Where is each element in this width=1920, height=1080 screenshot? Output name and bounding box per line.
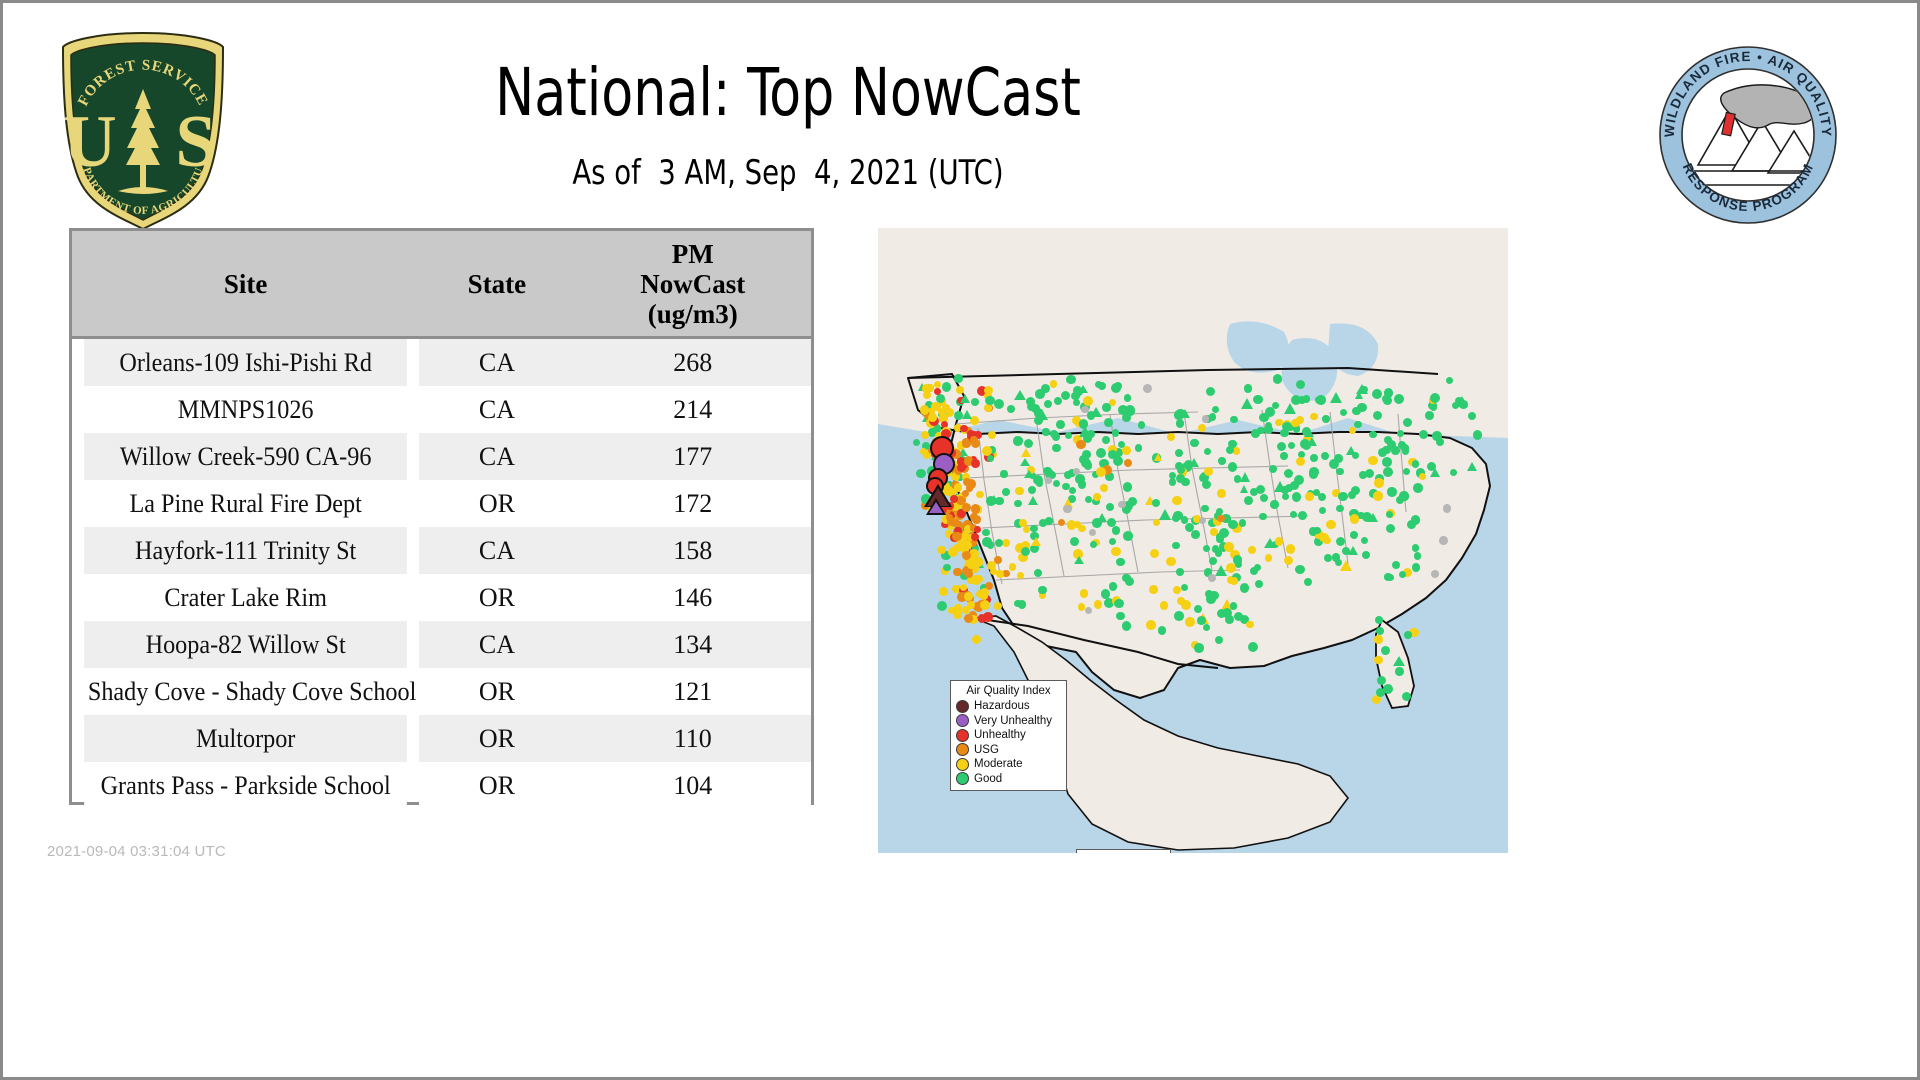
aqi-legend: Air Quality Index HazardousVery Unhealth… [950,680,1067,791]
monitor-dot[interactable] [1374,478,1384,488]
monitor-triangle[interactable] [1074,556,1084,564]
monitor-dot[interactable] [983,612,993,622]
monitor-triangle[interactable] [1467,462,1477,471]
monitor-dot[interactable] [982,529,990,537]
aqi-legend-label: Good [974,773,1002,785]
monitor-dot[interactable] [1432,431,1442,441]
monitor-dot[interactable] [1382,457,1392,467]
monitor-dot[interactable] [1080,589,1089,598]
monitor-dot[interactable] [1250,567,1258,575]
monitor-dot[interactable] [1175,462,1184,471]
monitor-dot[interactable] [1284,556,1293,565]
monitor-dot[interactable] [1209,413,1217,421]
monitor-dot[interactable] [1403,418,1412,427]
table-row[interactable]: Hayfork-111 Trinity StCA158 [72,527,811,574]
monitor-dot[interactable] [1042,428,1049,435]
monitor-dot[interactable] [1260,494,1268,502]
monitor-dot[interactable] [1295,565,1305,575]
aqi-legend-label: Very Unhealthy [974,715,1052,727]
monitor-triangle[interactable] [1215,565,1227,576]
monitor-dot[interactable] [1290,481,1299,490]
monitor-dot[interactable] [954,483,963,492]
monitor-dot[interactable] [1387,487,1397,497]
monitor-dot[interactable] [1181,478,1189,486]
monitor-dot[interactable] [1296,457,1305,466]
monitor-dot[interactable] [1224,542,1234,552]
monitor-dot[interactable] [1185,617,1195,627]
monitor-dot[interactable] [1090,541,1097,548]
monitor-dot[interactable] [1007,405,1015,413]
cell-pm: 177 [575,433,811,480]
cell-pm: 214 [575,386,811,433]
monitor-dot[interactable] [1383,467,1393,477]
monitor-dot[interactable] [1056,420,1065,429]
monitor-dot[interactable] [1259,413,1268,422]
monitor-dot[interactable] [1014,600,1021,607]
cell-state: OR [419,762,574,809]
top-site-marker[interactable] [926,498,946,515]
monitor-dot[interactable] [1407,520,1416,529]
monitor-dot[interactable] [970,436,978,444]
table-row[interactable]: Grants Pass - Parkside SchoolOR104 [72,762,811,809]
monitor-dot[interactable] [1402,692,1411,701]
monitor-dot[interactable] [1425,411,1434,420]
monitor-dot[interactable] [1019,519,1027,527]
monitor-dot[interactable] [964,614,973,623]
pm-header-line-2: NowCast [575,269,811,299]
table-row[interactable]: Orleans-109 Ishi-Pishi RdCA268 [72,338,811,387]
cell-state: CA [419,338,574,387]
monitor-triangle[interactable] [1021,448,1031,457]
monitor-dot[interactable] [971,398,979,406]
monitor-dot[interactable] [1081,406,1088,413]
monitor-dot[interactable] [1073,386,1081,394]
monitor-dot[interactable] [1362,551,1370,559]
column-header-site: Site [72,231,419,338]
monitor-dot[interactable] [1098,382,1106,390]
monitor-dot[interactable] [934,381,941,388]
monitor-dot[interactable] [1135,444,1142,451]
monitor-dot[interactable] [1078,525,1086,533]
cell-site: Orleans-109 Ishi-Pishi Rd [84,338,407,387]
monitor-dot[interactable] [1092,518,1102,528]
monitor-dot[interactable] [1203,624,1210,631]
monitor-dot[interactable] [1176,568,1184,576]
aqi-legend-label: Hazardous [974,700,1030,712]
monitor-dot[interactable] [1431,570,1439,578]
aqi-swatch-icon [956,743,969,756]
monitor-dot[interactable] [1298,396,1306,404]
monitor-dot[interactable] [1015,487,1023,495]
monitor-dot[interactable] [920,448,927,455]
monitor-dot[interactable] [952,532,962,542]
monitor-dot[interactable] [937,601,947,611]
monitor-dot[interactable] [1443,504,1451,512]
monitor-dot[interactable] [1052,444,1060,452]
cell-state: OR [419,574,574,621]
monitor-dot[interactable] [1412,544,1419,551]
monitor-dot[interactable] [1350,531,1358,539]
monitor-dot[interactable] [1286,544,1295,553]
table-row[interactable]: Shady Cove - Shady Cove SchoolOR121 [72,668,811,715]
monitor-dot[interactable] [1125,577,1134,586]
monitor-dot[interactable] [982,537,991,546]
monitor-dot[interactable] [1230,416,1237,423]
monitor-dot[interactable] [1208,574,1216,582]
monitor-dot[interactable] [1124,394,1131,401]
monitor-dot[interactable] [984,404,991,411]
monitor-dot[interactable] [1201,505,1208,512]
monitor-dot[interactable] [962,551,971,560]
monitor-dot[interactable] [1352,407,1361,416]
page-subtitle: As of 3 AM, Sep 4, 2021 (UTC) [406,153,1171,193]
monitor-dot[interactable] [996,570,1004,578]
monitor-dot[interactable] [1368,456,1378,466]
cell-pm: 104 [575,762,811,809]
cell-state: CA [419,433,574,480]
table-row[interactable]: Hoopa-82 Willow StCA134 [72,621,811,668]
table-row[interactable]: La Pine Rural Fire DeptOR172 [72,480,811,527]
monitor-dot[interactable] [1116,558,1124,566]
monitor-dot[interactable] [1230,577,1237,584]
monitor-dot[interactable] [1412,563,1421,572]
monitor-triangle[interactable] [1154,453,1162,461]
monitor-dot[interactable] [971,459,980,468]
monitor-dot[interactable] [1184,460,1193,469]
monitor-triangle[interactable] [1304,429,1314,437]
monitor-dot[interactable] [1419,473,1426,480]
monitor-dot[interactable] [1102,436,1110,444]
monitor-dot[interactable] [1468,412,1476,420]
monitor-dot[interactable] [1309,469,1318,478]
monitor-dot[interactable] [1112,526,1121,535]
monitor-dot[interactable] [1013,436,1022,445]
cell-state: CA [419,527,574,574]
monitor-dot[interactable] [956,386,964,394]
monitor-triangle[interactable] [1020,458,1030,466]
monitor-dot[interactable] [1270,500,1278,508]
monitor-dot[interactable] [1386,524,1395,533]
monitor-dot[interactable] [1413,483,1423,493]
monitor-dot[interactable] [1160,601,1168,609]
cell-state: OR [419,715,574,762]
monitor-dot[interactable] [1455,397,1463,405]
monitor-dot[interactable] [1109,538,1116,545]
monitor-dot[interactable] [1240,583,1249,592]
monitor-dot[interactable] [1360,386,1367,393]
monitor-dot[interactable] [1041,384,1050,393]
monitor-dot[interactable] [923,391,931,399]
monitor-dot[interactable] [1206,594,1216,604]
top-nowcast-table: Site State PM NowCast (ug/m3) Orleans-10… [69,228,814,805]
monitor-dot[interactable] [916,469,925,478]
cell-site: Shady Cove - Shady Cove School [84,668,407,715]
monitor-dot[interactable] [1248,546,1256,554]
monitor-dot[interactable] [1275,419,1282,426]
aqi-legend-label: USG [974,744,999,756]
monitor-dot[interactable] [1305,492,1314,501]
monitor-dot[interactable] [1158,626,1167,635]
monitor-dot[interactable] [957,463,966,472]
monitor-triangle[interactable] [1036,409,1048,420]
cell-pm: 121 [575,668,811,715]
cell-site: MMNPS1026 [84,386,407,433]
cell-site: Crater Lake Rim [84,574,407,621]
monitor-dot[interactable] [1334,454,1342,462]
monitor-dot[interactable] [1310,454,1317,461]
monitor-dot[interactable] [980,592,988,600]
monitor-dot[interactable] [1116,612,1125,621]
cell-state: OR [419,668,574,715]
aqi-swatch-icon [956,758,969,771]
aqi-legend-row: Unhealthy [956,728,1061,743]
monitor-dot[interactable] [1399,571,1406,578]
monitor-dot[interactable] [1381,646,1390,655]
page-title: National: Top NowCast [414,58,1162,128]
monitor-dot[interactable] [1206,387,1215,396]
wfaqrp-program-logo: WILDLAND FIRE • AIR QUALITY RESPONSE PRO… [1658,45,1838,225]
monitor-dot[interactable] [942,382,952,392]
monitor-dot[interactable] [1101,589,1110,598]
monitor-dot[interactable] [972,515,981,524]
monitor-dot[interactable] [1093,493,1101,501]
monitor-triangle[interactable] [1024,470,1034,478]
usfs-shield-logo: FOREST SERVICE U S DEPARTMENT OF AGRICUL… [58,31,228,231]
monitor-triangle[interactable] [1348,546,1358,555]
monitor-dot[interactable] [980,600,990,610]
monitor-dot[interactable] [939,587,948,596]
monitor-triangle[interactable] [1090,407,1102,417]
monitor-dot[interactable] [1039,519,1047,527]
monitor-dot[interactable] [1118,501,1125,508]
monitor-dot[interactable] [1172,514,1180,522]
monitor-dot[interactable] [1248,642,1258,652]
monitor-dot[interactable] [1310,413,1317,420]
monitor-dot[interactable] [1259,513,1267,521]
cell-site: Multorpor [84,715,407,762]
monitor-triangle[interactable] [1393,656,1405,666]
cell-site: Hoopa-82 Willow St [84,621,407,668]
monitor-dot[interactable] [937,546,946,555]
monitor-triangle[interactable] [960,394,970,403]
monitor-dot[interactable] [1009,563,1016,570]
aqi-swatch-icon [956,700,969,713]
monitor-dot[interactable] [1177,597,1185,605]
monitor-dot[interactable] [987,455,994,462]
monitor-dot[interactable] [1414,552,1421,559]
aqi-swatch-icon [956,714,969,727]
monitor-dot[interactable] [1292,492,1301,501]
site-type-legend: temporary permanent [1076,849,1171,853]
monitor-dot[interactable] [1251,429,1260,438]
footer-timestamp: 2021-09-04 03:31:04 UTC [47,843,226,860]
cell-pm: 158 [575,527,811,574]
monitor-dot[interactable] [1061,391,1070,400]
monitor-triangle[interactable] [962,410,972,419]
cell-site: La Pine Rural Fire Dept [84,480,407,527]
cell-pm: 146 [575,574,811,621]
monitor-dot[interactable] [1375,616,1383,624]
monitor-triangle[interactable] [1240,472,1250,482]
cell-site: Hayfork-111 Trinity St [84,527,407,574]
monitor-dot[interactable] [1244,384,1252,392]
cell-pm: 134 [575,621,811,668]
pm-header-line-3: (ug/m3) [575,299,811,329]
monitor-dot[interactable] [931,402,940,411]
monitor-dot[interactable] [1282,422,1291,431]
monitor-dot[interactable] [1374,635,1383,644]
monitor-dot[interactable] [1412,460,1419,467]
monitor-dot[interactable] [1217,609,1226,618]
monitor-dot[interactable] [951,519,959,527]
monitor-dot[interactable] [1123,531,1133,541]
monitor-dot[interactable] [954,374,962,382]
monitor-dot[interactable] [1217,515,1224,522]
monitor-dot[interactable] [1111,547,1120,556]
monitor-dot[interactable] [1398,441,1406,449]
monitor-dot[interactable] [1075,474,1085,484]
monitor-dot[interactable] [976,491,983,498]
monitor-dot[interactable] [1174,611,1184,621]
monitor-dot[interactable] [1336,468,1343,475]
monitor-triangle[interactable] [1330,392,1342,403]
monitor-dot[interactable] [1239,519,1246,526]
monitor-dot[interactable] [948,547,958,557]
monitor-triangle[interactable] [1159,509,1171,520]
monitor-triangle[interactable] [1241,398,1253,409]
monitor-dot[interactable] [1218,457,1226,465]
aqi-legend-row: Good [956,772,1061,787]
monitor-dot[interactable] [1269,465,1277,473]
monitor-dot[interactable] [1473,430,1482,439]
column-header-state: State [419,231,574,338]
table-row[interactable]: Willow Creek-590 CA-96CA177 [72,433,811,480]
monitor-dot[interactable] [1273,374,1283,384]
aqi-legend-row: Hazardous [956,699,1061,714]
monitor-dot[interactable] [1102,403,1111,412]
monitor-dot[interactable] [1354,421,1361,428]
monitor-triangle[interactable] [1240,485,1248,493]
monitor-dot[interactable] [1253,395,1263,405]
monitor-dot[interactable] [994,602,1002,610]
aqi-legend-row: Very Unhealthy [956,714,1061,729]
table-body: Orleans-109 Ishi-Pishi RdCA268MMNPS1026C… [72,338,811,810]
monitor-dot[interactable] [1228,440,1236,448]
aqi-legend-title: Air Quality Index [956,685,1061,697]
monitor-dot[interactable] [953,568,962,577]
monitor-dot[interactable] [1176,409,1185,418]
monitor-dot[interactable] [1169,478,1176,485]
national-aqi-map[interactable]: Air Quality Index HazardousVery Unhealth… [878,228,1508,853]
cell-pm: 268 [575,338,811,387]
cell-site: Grants Pass - Parkside School [84,762,407,809]
monitor-dot[interactable] [1176,419,1185,428]
monitor-dot[interactable] [1350,514,1359,523]
monitor-dot[interactable] [1038,586,1047,595]
monitor-dot[interactable] [1419,430,1428,439]
monitor-dot[interactable] [1322,415,1330,423]
monitor-dot[interactable] [1300,439,1310,449]
cell-pm: 172 [575,480,811,527]
monitor-dot[interactable] [1194,643,1204,653]
monitor-triangle[interactable] [1368,513,1378,522]
monitor-dot[interactable] [1228,462,1237,471]
table-row[interactable]: MultorporOR110 [72,715,811,762]
monitor-dot[interactable] [1173,586,1181,594]
table-row[interactable]: MMNPS1026CA214 [72,386,811,433]
monitor-dot[interactable] [1280,452,1287,459]
monitor-dot[interactable] [1146,620,1156,630]
monitor-dot[interactable] [1112,429,1119,436]
monitor-dot[interactable] [1404,631,1411,638]
monitor-dot[interactable] [1230,602,1237,609]
monitor-triangle[interactable] [1079,426,1091,437]
monitor-dot[interactable] [1298,511,1307,520]
aqi-swatch-icon [956,772,969,785]
monitor-dot[interactable] [1172,542,1179,549]
cell-pm: 110 [575,715,811,762]
monitor-dot[interactable] [1065,432,1072,439]
monitor-dot[interactable] [1395,667,1403,675]
table-row[interactable]: Crater Lake RimOR146 [72,574,811,621]
monitor-dot[interactable] [1217,489,1225,497]
monitor-triangle[interactable] [1346,446,1356,455]
monitor-dot[interactable] [1338,492,1347,501]
monitor-dot[interactable] [994,399,1004,409]
monitor-dot[interactable] [1081,458,1091,468]
monitor-dot[interactable] [1122,621,1131,630]
monitor-dot[interactable] [1373,491,1382,500]
monitor-dot[interactable] [1244,496,1253,505]
monitor-dot[interactable] [1167,433,1175,441]
monitor-dot[interactable] [1321,452,1329,460]
aqi-legend-label: Unhealthy [974,729,1026,741]
monitor-triangle[interactable] [1028,496,1038,505]
monitor-dot[interactable] [1000,470,1007,477]
monitor-dot[interactable] [966,484,973,491]
monitor-triangle[interactable] [1031,537,1041,546]
monitor-dot[interactable] [1281,486,1288,493]
monitor-dot[interactable] [1052,432,1060,440]
poster-page: FOREST SERVICE U S DEPARTMENT OF AGRICUL… [0,0,1920,1080]
monitor-dot[interactable] [1326,520,1336,530]
monitor-dot[interactable] [1109,582,1117,590]
monitor-dot[interactable] [960,425,967,432]
cell-state: CA [419,621,574,668]
monitor-dot[interactable] [1216,533,1223,540]
monitor-dot[interactable] [1439,536,1448,545]
monitor-dot[interactable] [1233,447,1241,455]
monitor-dot[interactable] [1212,406,1219,413]
cell-state: CA [419,386,574,433]
cell-state: OR [419,480,574,527]
monitor-triangle[interactable] [1340,560,1352,571]
aqi-legend-row: USG [956,743,1061,758]
monitor-dot[interactable] [1215,549,1222,556]
monitor-dot[interactable] [1210,528,1218,536]
monitor-dot[interactable] [1384,388,1393,397]
aqi-legend-label: Moderate [974,758,1023,770]
column-header-pm-nowcast: PM NowCast (ug/m3) [575,231,811,338]
monitor-dot[interactable] [1387,574,1394,581]
monitor-triangle[interactable] [1014,390,1026,400]
monitor-triangle[interactable] [1430,468,1440,477]
monitor-dot[interactable] [920,405,929,414]
table-header-row: Site State PM NowCast (ug/m3) [72,231,811,338]
monitor-dot[interactable] [1030,525,1037,532]
monitor-dot[interactable] [1172,496,1181,505]
monitor-dot[interactable] [1190,439,1199,448]
